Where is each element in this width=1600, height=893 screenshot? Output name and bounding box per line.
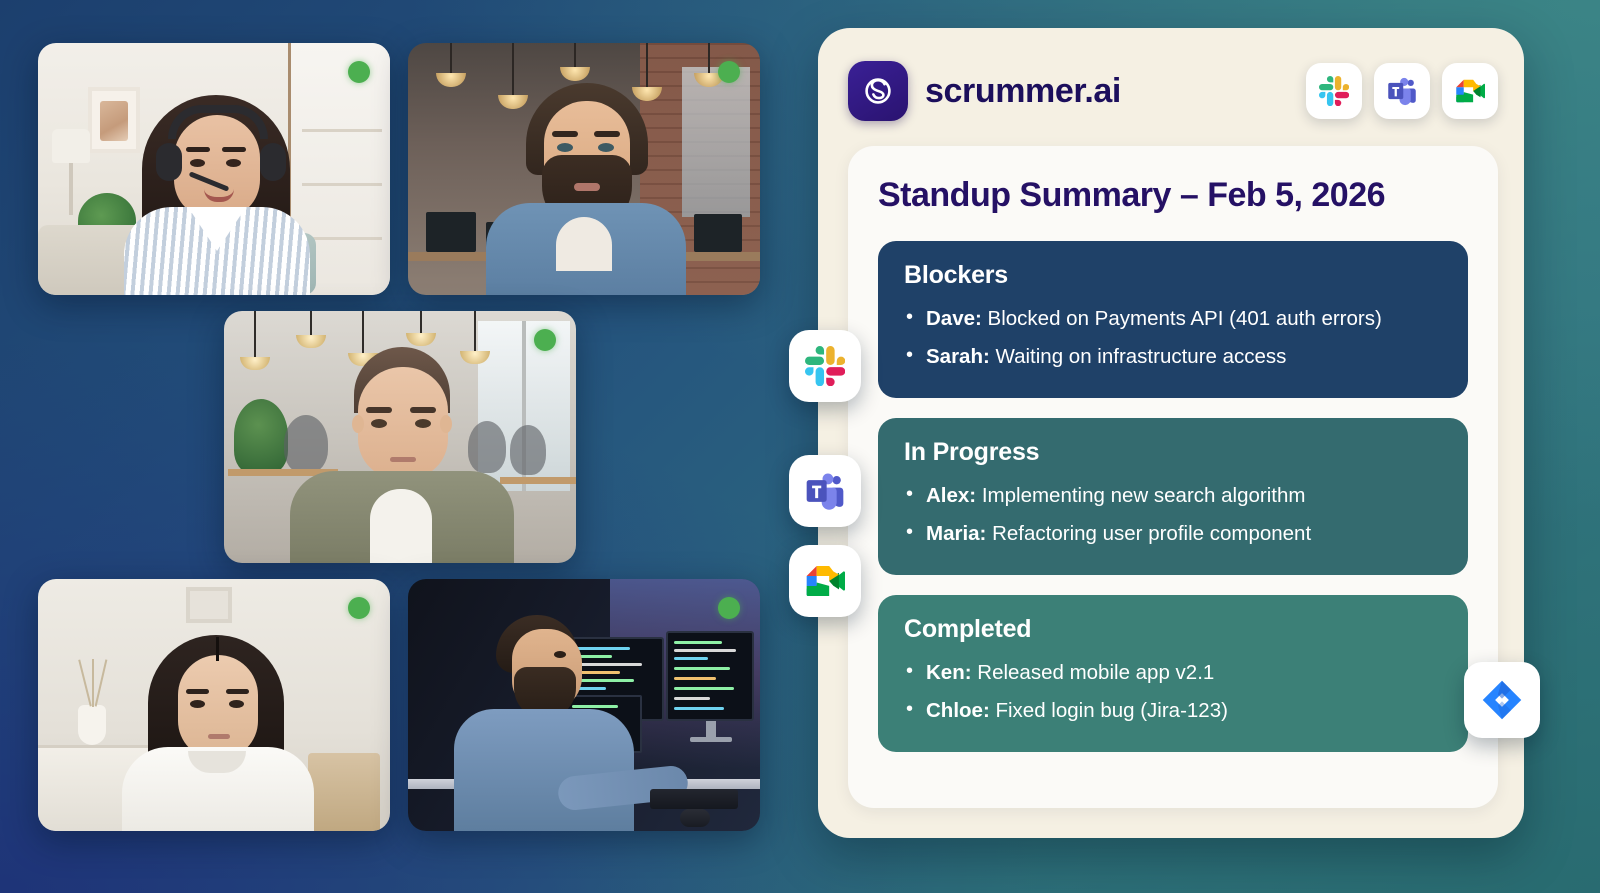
item-person: Sarah: [926,345,990,368]
scrummer-s-logo-icon [848,61,908,121]
item-person: Ken: [926,661,972,684]
video-tile-5[interactable] [408,579,760,831]
list-item: Chloe: Fixed login bug (Jira-123) [904,692,1442,730]
item-text: Fixed login bug (Jira-123) [995,699,1227,722]
status-dot-online-4 [348,597,370,619]
scrummer-summary-panel: scrummer.ai [818,28,1524,838]
google-meet-icon [1455,76,1485,106]
header-integrations [1306,63,1498,119]
participant-video-3 [224,311,576,563]
slack-icon [1319,76,1349,106]
participant-video-5 [408,579,760,831]
item-text: Waiting on infrastructure access [996,345,1287,368]
header-integration-slack[interactable] [1306,63,1362,119]
item-text: Implementing new search algorithm [982,484,1306,507]
slack-icon [805,346,845,386]
item-person: Maria: [926,522,986,545]
status-dot-online-1 [348,61,370,83]
status-dot-online-5 [718,597,740,619]
microsoft-teams-icon [805,471,845,511]
section-title-blockers: Blockers [904,261,1442,290]
video-tile-2[interactable] [408,43,760,295]
integration-chip-slack[interactable] [789,330,861,402]
list-item: Sarah: Waiting on infrastructure access [904,338,1442,376]
section-blockers: Blockers Dave: Blocked on Payments API (… [878,241,1468,398]
list-item: Ken: Released mobile app v2.1 [904,654,1442,692]
item-text: Blocked on Payments API (401 auth errors… [988,307,1382,330]
jira-icon [1480,678,1524,722]
list-item: Alex: Implementing new search algorithm [904,477,1442,515]
section-title-in-progress: In Progress [904,438,1442,467]
section-title-completed: Completed [904,615,1442,644]
section-list-in-progress: Alex: Implementing new search algorithm … [904,477,1442,553]
brand-name: scrummer.ai [925,72,1121,111]
item-person: Chloe: [926,699,990,722]
page-title: Standup Summary – Feb 5, 2026 [878,176,1468,215]
header-integration-teams[interactable] [1374,63,1430,119]
microsoft-teams-icon [1387,76,1417,106]
participant-video-1 [38,43,390,295]
status-dot-online-3 [534,329,556,351]
app-background: scrummer.ai [0,0,1600,893]
video-tile-4[interactable] [38,579,390,831]
list-item: Maria: Refactoring user profile componen… [904,515,1442,553]
participant-video-4 [38,579,390,831]
participant-video-2 [408,43,760,295]
item-text: Released mobile app v2.1 [977,661,1214,684]
integration-chip-meet[interactable] [789,545,861,617]
section-list-completed: Ken: Released mobile app v2.1 Chloe: Fix… [904,654,1442,730]
integration-chip-jira[interactable] [1464,662,1540,738]
section-completed: Completed Ken: Released mobile app v2.1 … [878,595,1468,752]
item-person: Alex: [926,484,976,507]
integration-chip-teams[interactable] [789,455,861,527]
google-meet-icon [805,561,845,601]
item-person: Dave: [926,307,982,330]
item-text: Refactoring user profile component [992,522,1311,545]
summary-card: Standup Summary – Feb 5, 2026 Blockers D… [848,146,1498,808]
panel-header: scrummer.ai [848,58,1498,124]
header-integration-meet[interactable] [1442,63,1498,119]
brand[interactable]: scrummer.ai [848,61,1121,121]
section-in-progress: In Progress Alex: Implementing new searc… [878,418,1468,575]
video-tile-3[interactable] [224,311,576,563]
list-item: Dave: Blocked on Payments API (401 auth … [904,300,1442,338]
section-list-blockers: Dave: Blocked on Payments API (401 auth … [904,300,1442,376]
video-tile-1[interactable] [38,43,390,295]
status-dot-online-2 [718,61,740,83]
